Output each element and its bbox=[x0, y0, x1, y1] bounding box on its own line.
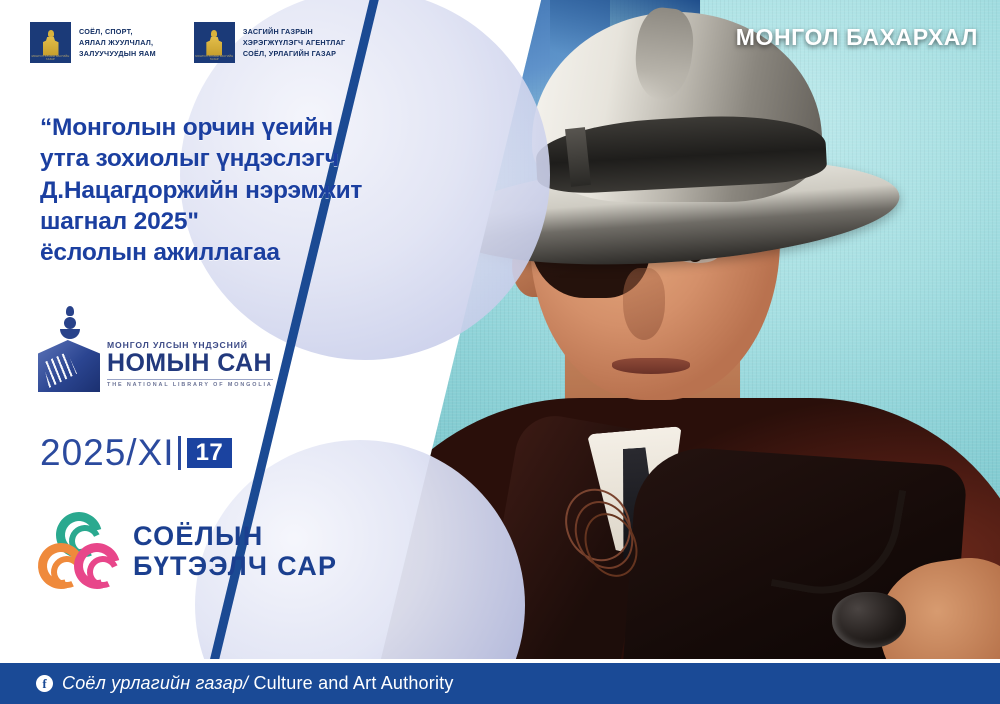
library-line-2: НОМЫН САН bbox=[107, 350, 273, 376]
library-divider bbox=[107, 379, 273, 380]
portrait-pipe-bowl bbox=[832, 592, 906, 648]
footer-credit-mn: Соёл урлагийн газар bbox=[62, 673, 243, 693]
mongolia-state-emblem-icon: МОНГОЛ УЛСЫН ЗАСГИЙН ГАЗАР bbox=[30, 22, 71, 63]
creative-month-swirl-icon bbox=[38, 512, 120, 590]
ministry-logos-row: МОНГОЛ УЛСЫН ЗАСГИЙН ГАЗАР СОЁЛ, СПОРТ, … bbox=[30, 22, 345, 63]
library-line-3: THE NATIONAL LIBRARY OF MONGOLIA bbox=[107, 382, 273, 388]
facebook-icon[interactable]: f bbox=[36, 675, 53, 692]
mongolia-state-emblem-icon: МОНГОЛ УЛСЫН ЗАСГИЙН ГАЗАР bbox=[194, 22, 235, 63]
portrait-mouth bbox=[612, 358, 690, 374]
footer-credit-en: Culture and Art Authority bbox=[253, 673, 453, 693]
creative-month-logo: СОЁЛЫН БҮТЭЭЛЧ САР bbox=[38, 512, 337, 590]
ministry-label: СОЁЛ, СПОРТ, АЯЛАЛ ЖУУЛЧЛАЛ, ЗАЛУУЧУУДЫН… bbox=[79, 26, 156, 59]
ministry-label: ЗАСГИЙН ГАЗРЫН ХЭРЭГЖҮҮЛЭГЧ АГЕНТЛАГ СОЁ… bbox=[243, 26, 346, 59]
emblem-caption: МОНГОЛ УЛСЫН ЗАСГИЙН ГАЗАР bbox=[194, 55, 235, 61]
swirl-pink-icon bbox=[74, 543, 120, 589]
photo-overlay-title: МОНГОЛ БАХАРХАЛ bbox=[736, 24, 978, 51]
national-library-wordmark: МОНГОЛ УЛСЫН ҮНДЭСНИЙ НОМЫН САН THE NATI… bbox=[107, 340, 273, 392]
footer-credit-separator: / bbox=[243, 673, 253, 693]
footer-bar: f Соёл урлагийн газар/ Culture and Art A… bbox=[0, 663, 1000, 704]
event-headline: “Монголын орчин үеийн утга зохиолыг үндэ… bbox=[40, 112, 430, 269]
creative-month-line-2: БҮТЭЭЛЧ САР bbox=[133, 551, 337, 581]
soyombo-moon bbox=[60, 329, 80, 339]
creative-month-line-1: СОЁЛЫН bbox=[133, 521, 337, 551]
national-library-mark-icon bbox=[38, 306, 100, 392]
date-year-month: 2025/XI bbox=[40, 432, 175, 474]
date-separator bbox=[178, 436, 181, 470]
creative-month-wordmark: СОЁЛЫН БҮТЭЭЛЧ САР bbox=[133, 521, 337, 581]
event-date: 2025/XI 17 bbox=[40, 432, 232, 474]
soyombo-sun bbox=[64, 317, 76, 329]
soyombo-flame bbox=[66, 306, 74, 316]
date-day-badge: 17 bbox=[187, 438, 233, 468]
soyombo-glyph bbox=[43, 30, 59, 56]
national-library-logo: МОНГОЛ УЛСЫН ҮНДЭСНИЙ НОМЫН САН THE NATI… bbox=[38, 306, 273, 392]
event-poster: МОНГОЛ БАХАРХАЛ МОНГОЛ УЛСЫН ЗАСГИЙН ГАЗ… bbox=[0, 0, 1000, 704]
ministry-logo-culture-sport: МОНГОЛ УЛСЫН ЗАСГИЙН ГАЗАР СОЁЛ, СПОРТ, … bbox=[30, 22, 156, 63]
emblem-caption: МОНГОЛ УЛСЫН ЗАСГИЙН ГАЗАР bbox=[30, 55, 71, 61]
footer-credit: Соёл урлагийн газар/ Culture and Art Aut… bbox=[62, 673, 454, 694]
soyombo-glyph bbox=[206, 30, 222, 56]
ministry-logo-culture-art-authority: МОНГОЛ УЛСЫН ЗАСГИЙН ГАЗАР ЗАСГИЙН ГАЗРЫ… bbox=[194, 22, 346, 63]
soyombo-icon bbox=[60, 306, 80, 340]
